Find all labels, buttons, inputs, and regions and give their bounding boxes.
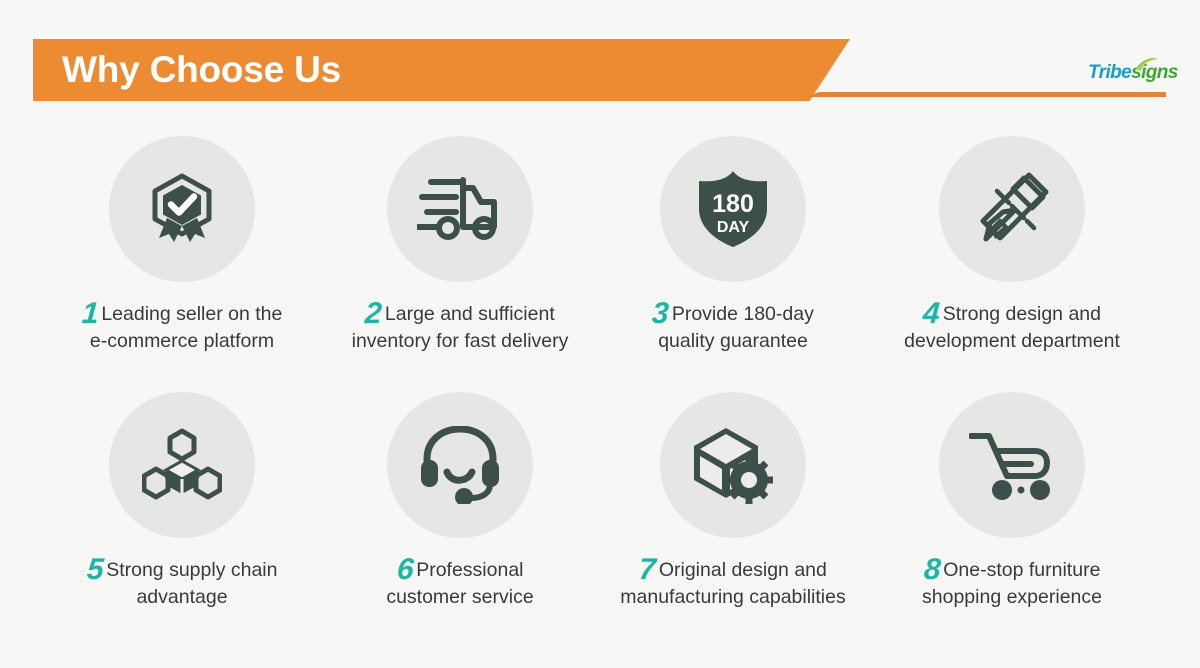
feature-line1-8: One-stop furniture: [943, 559, 1100, 581]
badge-check-icon: [109, 136, 255, 282]
shield-180-day-icon: 180 DAY: [660, 136, 806, 282]
feature-line2-7: manufacturing capabilities: [583, 584, 883, 611]
headset-icon: [387, 392, 533, 538]
shopping-cart-icon: [939, 392, 1085, 538]
page-title: Why Choose Us: [62, 47, 341, 93]
feature-line2-2: inventory for fast delivery: [320, 328, 600, 355]
feature-line1-2: Large and sufficient: [385, 303, 555, 325]
feature-caption-8: 8One-stop furniture shopping experience: [872, 556, 1152, 611]
feature-item-3[interactable]: 180 DAY 3Provide 180-day quality guarant…: [593, 128, 873, 384]
feature-line1-5: Strong supply chain: [106, 559, 277, 581]
feature-number-3: 3: [651, 300, 670, 327]
feature-number-5: 5: [86, 556, 105, 583]
feature-number-2: 2: [364, 300, 383, 327]
feature-line2-8: shopping experience: [872, 584, 1152, 611]
feature-item-8[interactable]: 8One-stop furniture shopping experience: [872, 384, 1152, 640]
feature-item-1[interactable]: 1Leading seller on the e-commerce platfo…: [42, 128, 322, 384]
brand-logo: Tribesigns: [1088, 62, 1178, 84]
ruler-pencil-icon: [939, 136, 1085, 282]
leaf-icon: [1135, 57, 1159, 71]
feature-caption-5: 5Strong supply chain advantage: [42, 556, 322, 611]
feature-line2-3: quality guarantee: [593, 328, 873, 355]
features-row-2: 5Strong supply chain advantage 6Professi…: [0, 384, 1200, 640]
page-header: Why Choose Us Tribesigns: [0, 0, 1200, 120]
feature-number-1: 1: [81, 300, 100, 327]
feature-line1-3: Provide 180-day: [672, 303, 814, 325]
feature-number-8: 8: [923, 556, 942, 583]
feature-number-4: 4: [922, 300, 941, 327]
box-gear-icon: [660, 392, 806, 538]
feature-item-6[interactable]: 6Professional customer service: [320, 384, 600, 640]
feature-number-6: 6: [396, 556, 415, 583]
feature-caption-7: 7Original design and manufacturing capab…: [583, 556, 883, 611]
feature-line1-6: Professional: [416, 559, 523, 581]
shield-text-180: 180: [712, 190, 754, 218]
supply-chain-network-icon: [109, 392, 255, 538]
feature-number-7: 7: [638, 556, 657, 583]
delivery-truck-icon: [387, 136, 533, 282]
features-grid: 1Leading seller on the e-commerce platfo…: [0, 128, 1200, 668]
feature-item-2[interactable]: 2Large and sufficient inventory for fast…: [320, 128, 600, 384]
feature-caption-2: 2Large and sufficient inventory for fast…: [320, 300, 600, 355]
feature-line2-1: e-commerce platform: [42, 328, 322, 355]
feature-line2-6: customer service: [320, 584, 600, 611]
features-row-1: 1Leading seller on the e-commerce platfo…: [0, 128, 1200, 384]
shield-text-day: DAY: [717, 219, 750, 236]
feature-line1-4: Strong design and: [943, 303, 1101, 325]
feature-line1-7: Original design and: [659, 559, 827, 581]
feature-item-5[interactable]: 5Strong supply chain advantage: [42, 384, 322, 640]
feature-caption-6: 6Professional customer service: [320, 556, 600, 611]
brand-logo-part1: Tribe: [1088, 62, 1131, 83]
feature-item-4[interactable]: 4Strong design and development departmen…: [872, 128, 1152, 384]
feature-line2-5: advantage: [42, 584, 322, 611]
feature-item-7[interactable]: 7Original design and manufacturing capab…: [593, 384, 873, 640]
feature-caption-1: 1Leading seller on the e-commerce platfo…: [42, 300, 322, 355]
feature-line2-4: development department: [862, 328, 1162, 355]
feature-caption-4: 4Strong design and development departmen…: [862, 300, 1162, 355]
feature-line1-1: Leading seller on the: [101, 303, 282, 325]
feature-caption-3: 3Provide 180-day quality guarantee: [593, 300, 873, 355]
header-divider-rule: [805, 92, 1166, 97]
